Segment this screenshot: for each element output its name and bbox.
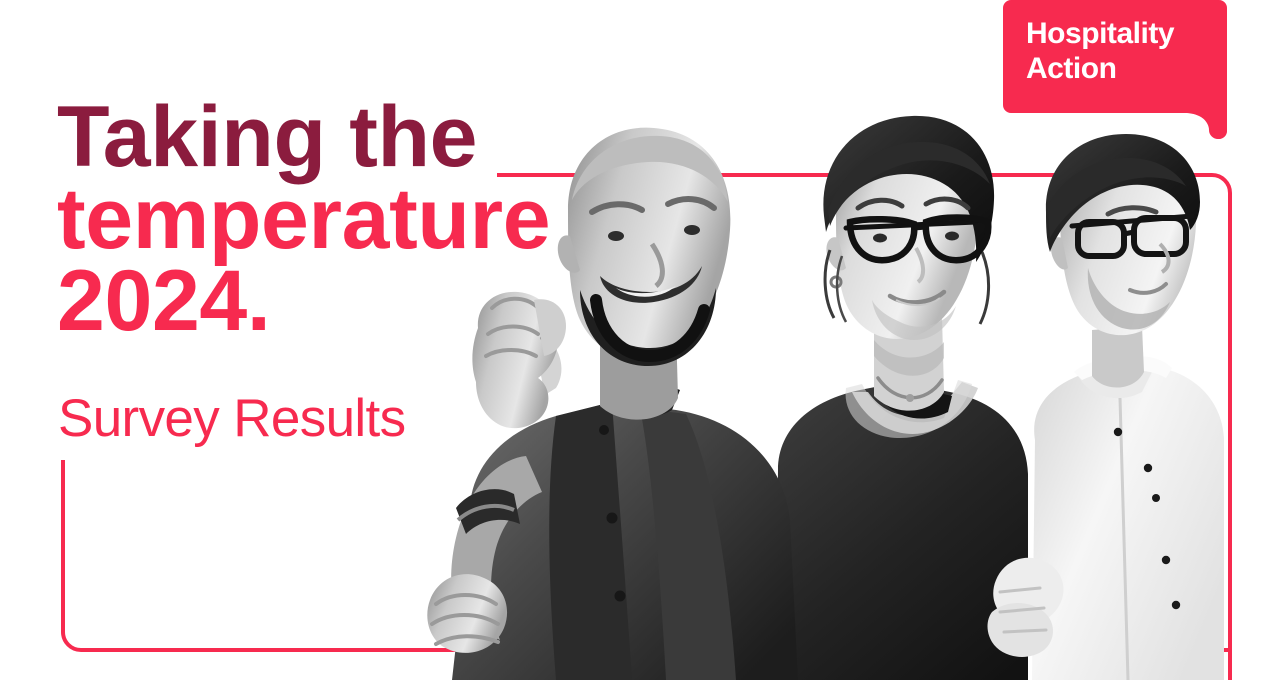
logo-line-2: Action (1026, 52, 1174, 87)
glasses-person-2 (846, 218, 988, 261)
headline-line-3: 2024. (57, 260, 550, 342)
person-3-chef-white (1032, 134, 1224, 680)
glasses-person-3 (1072, 216, 1192, 256)
poster-canvas: Taking the temperature 2024. Survey Resu… (0, 0, 1280, 680)
logo-wordmark: Hospitality Action (1026, 17, 1174, 86)
headline-line-1: Taking the (57, 96, 550, 178)
headline-line-2: temperature (57, 178, 550, 260)
hospitality-action-logo[interactable]: Hospitality Action (1003, 0, 1227, 139)
subtitle: Survey Results (58, 388, 406, 449)
page-title: Taking the temperature 2024. (57, 96, 550, 342)
person-2-woman-glasses (776, 116, 1064, 680)
logo-line-1: Hospitality (1026, 17, 1174, 52)
